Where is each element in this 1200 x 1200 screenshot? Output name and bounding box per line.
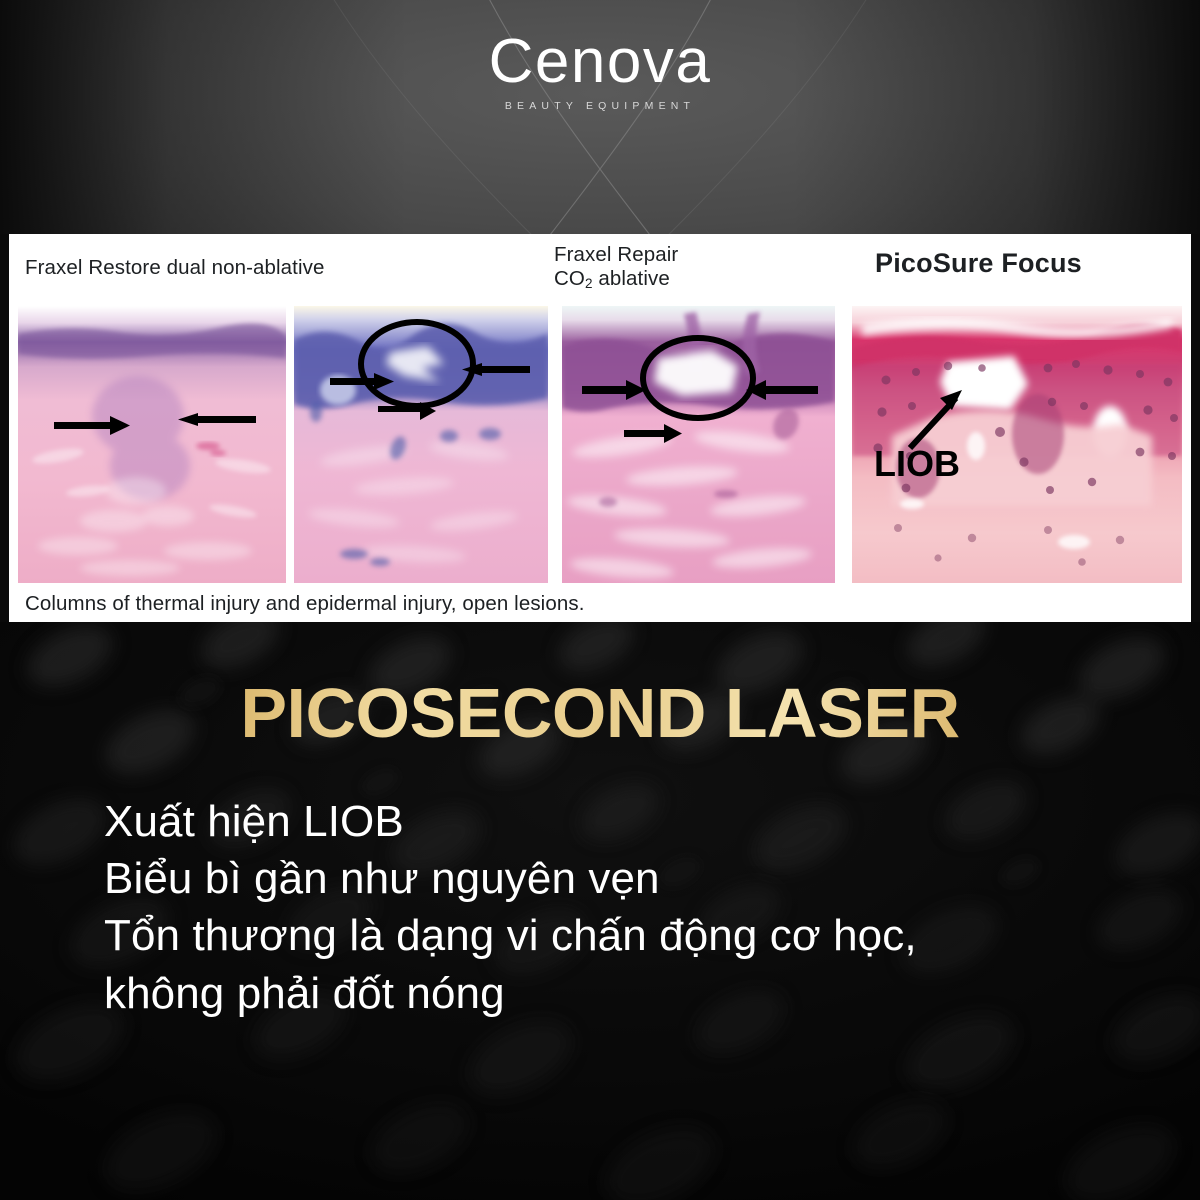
histology-image-3 (562, 306, 835, 583)
benefit-line-4: không phải đốt nóng (104, 965, 1184, 1022)
histology-tile-picosure-focus: LIOB (852, 306, 1182, 583)
panel-label-picosure-focus: PicoSure Focus (875, 248, 1082, 280)
histology-figure-panel: Fraxel Restore dual non-ablative Fraxel … (9, 234, 1191, 622)
fraxel-repair-line1: Fraxel Repair (554, 243, 678, 266)
histology-image-2 (294, 306, 548, 583)
co2-prefix: CO (554, 267, 585, 290)
figure-caption: Columns of thermal injury and epidermal … (25, 592, 585, 616)
header-vignette (0, 0, 1200, 234)
panel-label-fraxel-repair: Fraxel Repair CO2 ablative (554, 243, 678, 292)
histology-image-1 (18, 306, 286, 583)
header-background (0, 0, 1200, 234)
page-title: PICOSECOND LASER (0, 678, 1200, 748)
co2-suffix: ablative (593, 267, 670, 290)
panel-label-fraxel-restore: Fraxel Restore dual non-ablative (25, 256, 324, 280)
histology-tile-fraxel-repair (562, 306, 835, 583)
histology-tiles: LIOB (9, 306, 1191, 583)
benefit-line-2: Biểu bì gần như nguyên vẹn (104, 850, 1184, 907)
histology-tile-fraxel-restore (18, 306, 286, 583)
benefit-line-1: Xuất hiện LIOB (104, 793, 1184, 850)
histology-tile-middle-blue (294, 306, 548, 583)
histology-image-4: LIOB (852, 306, 1182, 583)
co2-subscript: 2 (585, 276, 593, 291)
panel-headings: Fraxel Restore dual non-ablative Fraxel … (9, 234, 1191, 308)
liob-label: LIOB (874, 443, 960, 484)
benefit-line-3: Tổn thương là dạng vi chấn động cơ học, (104, 907, 1184, 964)
poster-canvas: Cenova BEAUTY EQUIPMENT Fraxel Restore d… (0, 0, 1200, 1200)
benefit-list: Xuất hiện LIOB Biểu bì gần như nguyên vẹ… (104, 793, 1184, 1022)
